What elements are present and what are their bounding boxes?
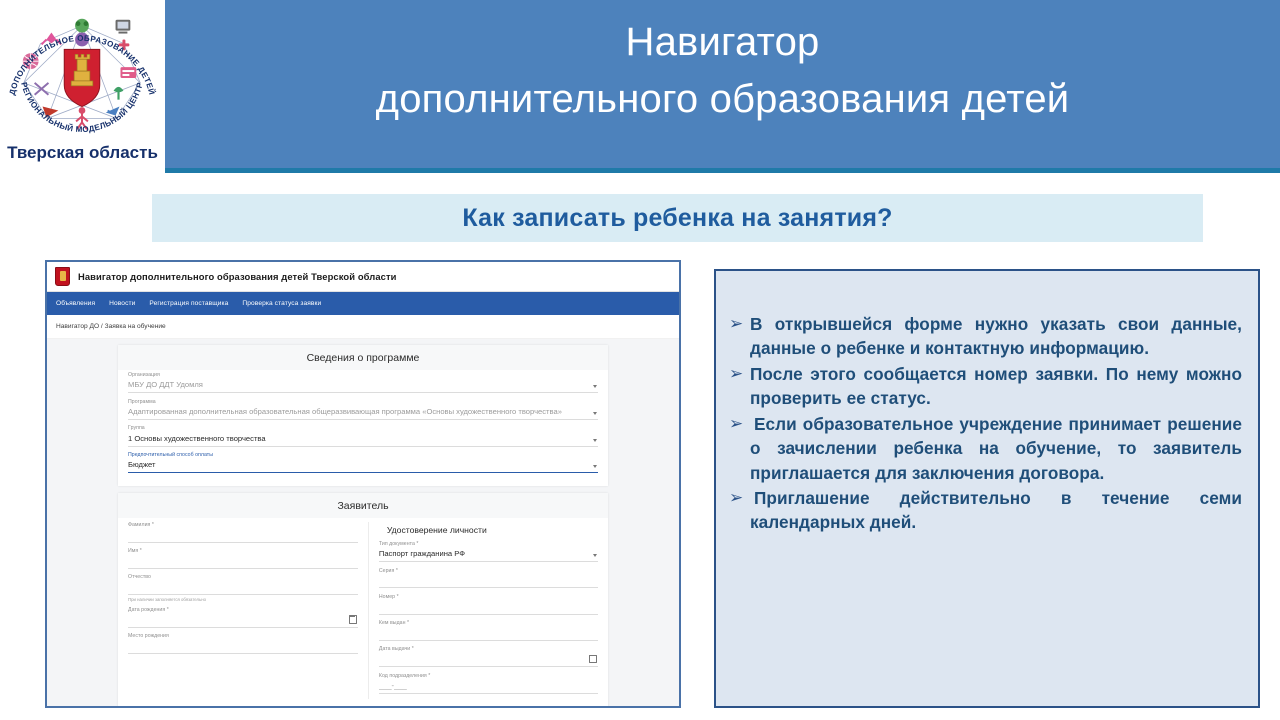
field-department-code-label: Код подразделения *	[379, 673, 598, 679]
field-program-label: Программа	[128, 399, 598, 405]
applicant-columns: Фамилия * Имя * Отчество При наличии зап…	[118, 518, 608, 707]
tver-coat-of-arms-icon	[64, 49, 100, 106]
field-birth-place-label: Место рождения	[128, 633, 358, 639]
coat-of-arms-icon	[55, 267, 70, 286]
calendar-icon[interactable]	[589, 655, 597, 664]
applicant-section-title: Заявитель	[118, 493, 608, 518]
site-brand: Навигатор дополнительного образования де…	[78, 271, 397, 282]
field-middle-name-label: Отчество	[128, 574, 358, 580]
nav-item-application-status[interactable]: Проверка статуса заявки	[242, 300, 321, 307]
chevron-down-icon	[593, 439, 597, 442]
logo-caption: Тверская область	[0, 143, 165, 163]
field-issued-by-label: Кем выдан *	[379, 620, 598, 626]
field-document-type-value[interactable]: Паспорт гражданина РФ	[379, 549, 598, 562]
field-group-value[interactable]: 1 Основы художественного творчества	[128, 434, 598, 447]
field-organization[interactable]: Организация МБУ ДО ДДТ Удомля	[128, 372, 598, 393]
site-navbar: Объявления Новости Регистрация поставщик…	[47, 292, 679, 315]
field-first-name[interactable]: Имя *	[128, 548, 358, 569]
list-item: ➢ После этого сообщается номер заявки. П…	[726, 362, 1242, 411]
field-issue-date[interactable]: Дата выдачи *	[379, 646, 598, 667]
regional-model-center-logo: ДОПОЛНИТЕЛЬНОЕ ОБРАЗОВАНИЕ ДЕТЕЙ РЕГИОНА…	[2, 0, 162, 148]
list-item: ➢ В открывшейся форме нужно указать свои…	[726, 312, 1242, 361]
field-issued-by[interactable]: Кем выдан *	[379, 620, 598, 641]
field-department-code-input[interactable]: ___-___	[379, 681, 598, 694]
field-organization-label: Организация	[128, 372, 598, 378]
note-text-2: После этого сообщается номер заявки. По …	[750, 362, 1242, 411]
subtitle-text: Как записать ребенка на занятия?	[462, 204, 892, 233]
field-document-series-label: Серия *	[379, 568, 598, 574]
field-document-number-input[interactable]	[379, 602, 598, 615]
breadcrumb[interactable]: Навигатор ДО / Заявка на обучение	[56, 323, 166, 330]
nav-item-news[interactable]: Новости	[109, 300, 135, 307]
field-birth-date-label: Дата рождения *	[128, 607, 358, 613]
field-document-series[interactable]: Серия *	[379, 568, 598, 589]
arrow-bullet-icon: ➢	[726, 312, 750, 336]
field-issued-by-input[interactable]	[379, 628, 598, 641]
breadcrumb-row: Навигатор ДО / Заявка на обучение	[47, 315, 679, 339]
field-last-name-label: Фамилия *	[128, 522, 358, 528]
field-payment-method[interactable]: Предпочтительный способ оплаты Бюджет	[128, 452, 598, 473]
field-first-name-input[interactable]	[128, 556, 358, 569]
id-card-title: Удостоверение личности	[379, 522, 598, 541]
applicant-card: Заявитель Фамилия * Имя * Отчество	[118, 493, 608, 707]
arrow-bullet-icon: ➢	[726, 486, 750, 510]
note-text-1: В открывшейся форме нужно указать свои д…	[750, 312, 1242, 361]
field-group[interactable]: Группа 1 Основы художественного творчест…	[128, 425, 598, 446]
nav-item-announcements[interactable]: Объявления	[56, 300, 95, 307]
applicant-id-column: Удостоверение личности Тип документа * П…	[368, 522, 598, 699]
field-program-value[interactable]: Адаптированная дополнительная образовате…	[128, 407, 598, 420]
list-item: ➢ Если образовательное учреждение приним…	[726, 412, 1242, 485]
field-birth-date-input[interactable]	[128, 615, 358, 628]
calendar-icon[interactable]	[349, 615, 357, 624]
program-fields: Организация МБУ ДО ДДТ Удомля Программа …	[118, 370, 608, 486]
note-text-4: Приглашение действительно в течение семи…	[750, 486, 1242, 535]
logo-box: ДОПОЛНИТЕЛЬНОЕ ОБРАЗОВАНИЕ ДЕТЕЙ РЕГИОНА…	[0, 0, 165, 172]
list-item: ➢ Приглашение действительно в течение се…	[726, 486, 1242, 535]
field-middle-name-hint: При наличии заполняется обязательно	[128, 597, 358, 602]
chevron-down-icon	[593, 465, 597, 468]
slide-root: Навигатор дополнительного образования де…	[0, 0, 1280, 720]
field-program[interactable]: Программа Адаптированная дополнительная …	[128, 399, 598, 420]
field-organization-value[interactable]: МБУ ДО ДДТ Удомля	[128, 380, 598, 393]
field-document-type-label: Тип документа *	[379, 541, 598, 547]
subtitle-bar: Как записать ребенка на занятия?	[152, 194, 1203, 242]
field-issue-date-label: Дата выдачи *	[379, 646, 598, 652]
field-document-number-label: Номер *	[379, 594, 598, 600]
field-middle-name[interactable]: Отчество При наличии заполняется обязате…	[128, 574, 358, 601]
field-payment-method-value[interactable]: Бюджет	[128, 460, 598, 473]
field-birth-place-input[interactable]	[128, 642, 358, 655]
field-last-name[interactable]: Фамилия *	[128, 522, 358, 543]
program-section-title: Сведения о программе	[118, 345, 608, 370]
screenshot-panel: Навигатор дополнительного образования де…	[45, 260, 681, 708]
field-birth-place[interactable]: Место рождения	[128, 633, 358, 654]
nav-item-provider-registration[interactable]: Регистрация поставщика	[149, 300, 228, 307]
arrow-bullet-icon: ➢	[726, 362, 750, 386]
field-department-code[interactable]: Код подразделения * ___-___	[379, 673, 598, 694]
notes-panel: ➢ В открывшейся форме нужно указать свои…	[714, 269, 1260, 708]
form-body: Сведения о программе Организация МБУ ДО …	[47, 339, 679, 706]
program-info-card: Сведения о программе Организация МБУ ДО …	[118, 345, 608, 486]
field-document-number[interactable]: Номер *	[379, 594, 598, 615]
chevron-down-icon	[593, 385, 597, 388]
field-birth-date[interactable]: Дата рождения *	[128, 607, 358, 628]
chevron-down-icon	[593, 554, 597, 557]
page-title: Навигатор дополнительного образования де…	[175, 14, 1270, 128]
field-first-name-label: Имя *	[128, 548, 358, 554]
chevron-down-icon	[593, 412, 597, 415]
field-document-series-input[interactable]	[379, 576, 598, 589]
applicant-personal-column: Фамилия * Имя * Отчество При наличии зап…	[128, 522, 358, 699]
field-last-name-input[interactable]	[128, 530, 358, 543]
note-text-3: Если образовательное учреждение принимае…	[750, 412, 1242, 485]
field-payment-method-label: Предпочтительный способ оплаты	[128, 452, 598, 458]
field-document-type[interactable]: Тип документа * Паспорт гражданина РФ	[379, 541, 598, 562]
field-group-label: Группа	[128, 425, 598, 431]
site-header: Навигатор дополнительного образования де…	[47, 262, 679, 292]
field-issue-date-input[interactable]	[379, 655, 598, 668]
field-middle-name-input[interactable]	[128, 583, 358, 596]
arrow-bullet-icon: ➢	[726, 412, 750, 436]
header-underline	[165, 168, 1280, 173]
